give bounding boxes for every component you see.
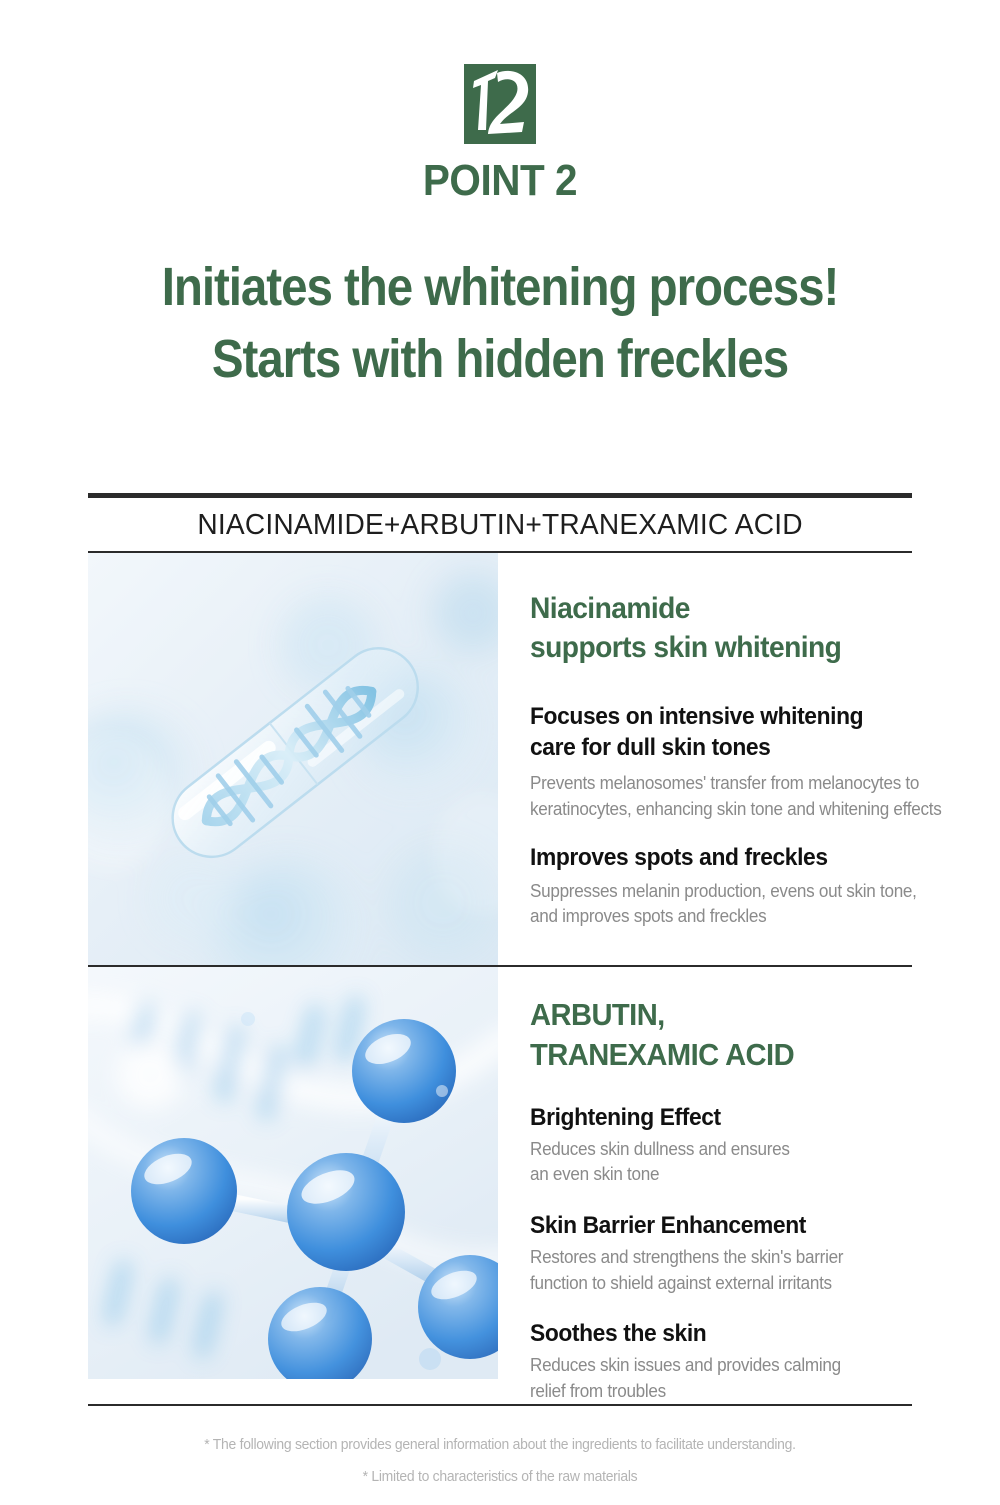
ingredient-section-arbutin: ARBUTIN, TRANEXAMIC ACID Brightening Eff… xyxy=(88,967,912,1404)
infographic-page: POINT 2 Initiates the whitening process!… xyxy=(0,0,1000,1505)
benefit-description: Prevents melanosomes' transfer from mela… xyxy=(530,771,942,822)
page-header: POINT 2 Initiates the whitening process!… xyxy=(0,0,1000,396)
benefit-heading: Improves spots and freckles xyxy=(530,842,942,873)
benefit-item: Skin Barrier Enhancement Restores and st… xyxy=(530,1210,912,1296)
content-frame: NIACINAMIDE+ARBUTIN+TRANEXAMIC ACID xyxy=(88,493,912,1488)
ingredient-title-line-2: TRANEXAMIC ACID xyxy=(530,1035,889,1075)
benefit-description: Reduces skin issues and provides calming… xyxy=(530,1353,893,1404)
benefit-item: Focuses on intensive whitening care for … xyxy=(530,701,963,822)
ingredient-banner: NIACINAMIDE+ARBUTIN+TRANEXAMIC ACID xyxy=(88,498,912,551)
benefit-description-line-2: an even skin tone xyxy=(530,1162,893,1188)
niacinamide-info: Niacinamide supports skin whitening Focu… xyxy=(498,553,963,965)
arbutin-info: ARBUTIN, TRANEXAMIC ACID Brightening Eff… xyxy=(498,967,912,1404)
benefit-description: Suppresses melanin production, evens out… xyxy=(530,879,942,930)
footnote-1: * The following section provides general… xyxy=(117,1433,883,1456)
benefit-description-line-2: relief from troubles xyxy=(530,1379,893,1405)
ingredient-title-arbutin: ARBUTIN, TRANEXAMIC ACID xyxy=(530,995,889,1076)
benefit-heading: Brightening Effect xyxy=(530,1102,893,1133)
ingredient-title-line-2: supports skin whitening xyxy=(530,628,937,667)
molecule-model-photo xyxy=(88,967,498,1379)
page-title: Initiates the whitening process! Starts … xyxy=(60,252,940,396)
benefit-description-line-1: Restores and strengthens the skin's barr… xyxy=(530,1245,893,1271)
benefit-heading-line-1: Skin Barrier Enhancement xyxy=(530,1210,893,1241)
benefit-item: Soothes the skin Reduces skin issues and… xyxy=(530,1318,912,1404)
benefit-description-line-2: and improves spots and freckles xyxy=(530,904,942,930)
benefit-item: Brightening Effect Reduces skin dullness… xyxy=(530,1102,912,1188)
benefit-description-line-1: Reduces skin issues and provides calming xyxy=(530,1353,893,1379)
ingredient-title-niacinamide: Niacinamide supports skin whitening xyxy=(530,589,937,667)
benefit-heading-line-2: care for dull skin tones xyxy=(530,732,942,763)
ingredient-title-line-1: Niacinamide xyxy=(530,589,937,628)
benefit-description-line-2: keratinocytes, enhancing skin tone and w… xyxy=(530,797,942,823)
benefit-description: Reduces skin dullness and ensures an eve… xyxy=(530,1137,893,1188)
ingredient-section-niacinamide: Niacinamide supports skin whitening Focu… xyxy=(88,553,912,965)
benefit-heading-line-1: Improves spots and freckles xyxy=(530,842,942,873)
footnotes: * The following section provides general… xyxy=(88,1406,912,1488)
benefit-description-line-1: Reduces skin dullness and ensures xyxy=(530,1137,893,1163)
benefit-heading: Skin Barrier Enhancement xyxy=(530,1210,893,1241)
benefit-item: Improves spots and freckles Suppresses m… xyxy=(530,842,963,929)
benefit-heading: Focuses on intensive whitening care for … xyxy=(530,701,942,763)
footnote-2: * Limited to characteristics of the raw … xyxy=(117,1465,883,1488)
ingredient-title-line-1: ARBUTIN, xyxy=(530,995,889,1035)
point-label: POINT 2 xyxy=(40,156,960,206)
benefit-heading-line-1: Soothes the skin xyxy=(530,1318,893,1349)
benefit-description-line-2: function to shield against external irri… xyxy=(530,1271,893,1297)
benefit-description-line-1: Suppresses melanin production, evens out… xyxy=(530,879,942,905)
benefit-heading-line-1: Brightening Effect xyxy=(530,1102,893,1133)
brand-logo-icon xyxy=(464,64,536,144)
headline-line-1: Initiates the whitening process! xyxy=(60,252,940,324)
benefit-description: Restores and strengthens the skin's barr… xyxy=(530,1245,893,1296)
benefit-heading-line-1: Focuses on intensive whitening xyxy=(530,701,942,732)
ingredient-banner-text: NIACINAMIDE+ARBUTIN+TRANEXAMIC ACID xyxy=(197,509,802,542)
benefit-heading: Soothes the skin xyxy=(530,1318,893,1349)
dna-capsule-photo xyxy=(88,553,498,965)
headline-line-2: Starts with hidden freckles xyxy=(60,324,940,396)
benefit-description-line-1: Prevents melanosomes' transfer from mela… xyxy=(530,771,942,797)
